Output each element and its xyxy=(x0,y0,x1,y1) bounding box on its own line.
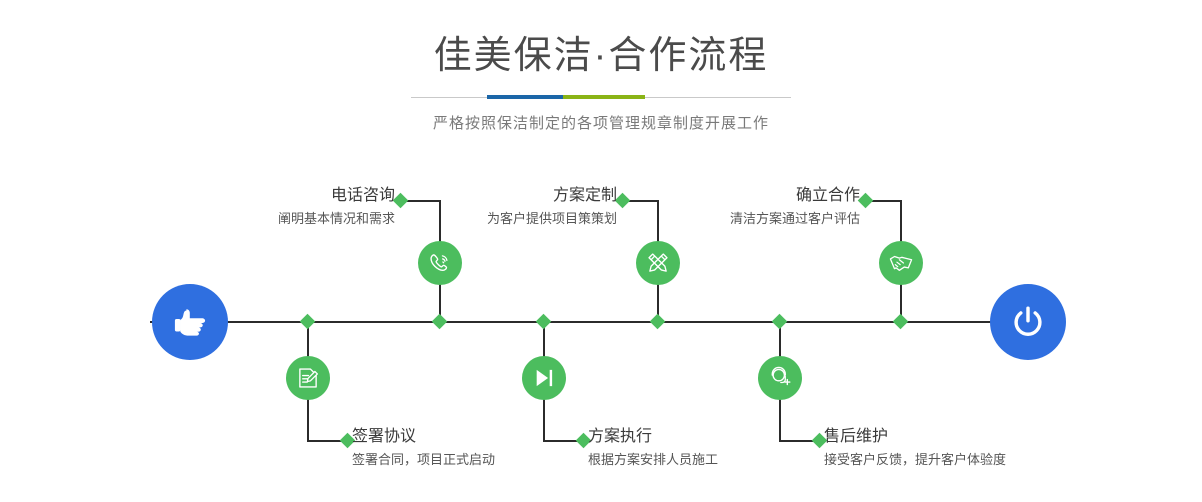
step-2-icon-node[interactable] xyxy=(286,356,330,400)
step-3-icon-node[interactable] xyxy=(636,241,680,285)
step-1-title: 电话咨询 xyxy=(190,185,395,207)
step-3-title: 方案定制 xyxy=(405,185,617,207)
step-1-label: 电话咨询 阐明基本情况和需求 xyxy=(190,185,395,229)
step-4-desc: 根据方案安排人员施工 xyxy=(588,450,813,470)
step-3-label-marker xyxy=(615,193,631,209)
play-skip-icon xyxy=(531,365,557,391)
step-6-label-marker xyxy=(858,193,874,209)
timeline-start-node[interactable] xyxy=(152,284,228,360)
timeline-axis xyxy=(150,321,1055,323)
pointing-hand-icon xyxy=(169,301,211,343)
headset-support-icon xyxy=(767,365,793,391)
step-5-desc: 接受客户反馈，提升客户体验度 xyxy=(824,450,1084,470)
step-6-axis-marker xyxy=(893,314,909,330)
step-4-icon-node[interactable] xyxy=(522,356,566,400)
step-2-desc: 签署合同，项目正式启动 xyxy=(352,450,582,470)
title-divider xyxy=(411,93,791,103)
pencil-ruler-icon xyxy=(645,250,671,276)
page-title: 佳美保洁·合作流程 xyxy=(0,32,1202,80)
page-subtitle: 严格按照保洁制定的各项管理规章制度开展工作 xyxy=(0,113,1202,135)
step-5-axis-marker xyxy=(772,314,788,330)
step-5-icon-node[interactable] xyxy=(758,356,802,400)
step-6-label: 确立合作 清洁方案通过客户评估 xyxy=(648,185,860,229)
step-5-title: 售后维护 xyxy=(824,426,1084,448)
step-1-desc: 阐明基本情况和需求 xyxy=(190,209,395,229)
divider-segment-blue xyxy=(487,95,563,99)
step-5-label: 售后维护 接受客户反馈，提升客户体验度 xyxy=(824,426,1084,470)
step-2-title: 签署协议 xyxy=(352,426,582,448)
step-3-axis-marker xyxy=(650,314,666,330)
step-1-icon-node[interactable] xyxy=(418,241,462,285)
power-icon xyxy=(1008,302,1048,342)
step-4-label: 方案执行 根据方案安排人员施工 xyxy=(588,426,813,470)
step-6-desc: 清洁方案通过客户评估 xyxy=(648,209,860,229)
step-1-axis-marker xyxy=(432,314,448,330)
timeline-end-node[interactable] xyxy=(990,284,1066,360)
divider-segment-green xyxy=(563,95,645,99)
document-edit-icon xyxy=(295,365,321,391)
step-6-icon-node[interactable] xyxy=(879,241,923,285)
step-2-axis-marker xyxy=(300,314,316,330)
header: 佳美保洁·合作流程 严格按照保洁制定的各项管理规章制度开展工作 xyxy=(0,32,1202,135)
step-2-label: 签署协议 签署合同，项目正式启动 xyxy=(352,426,582,470)
step-4-axis-marker xyxy=(536,314,552,330)
flow-diagram-page: 佳美保洁·合作流程 严格按照保洁制定的各项管理规章制度开展工作 xyxy=(0,0,1202,502)
step-6-title: 确立合作 xyxy=(648,185,860,207)
phone-call-icon xyxy=(427,250,453,276)
step-4-title: 方案执行 xyxy=(588,426,813,448)
handshake-icon xyxy=(888,250,914,276)
step-3-desc: 为客户提供项目策策划 xyxy=(405,209,617,229)
step-3-label: 方案定制 为客户提供项目策策划 xyxy=(405,185,617,229)
